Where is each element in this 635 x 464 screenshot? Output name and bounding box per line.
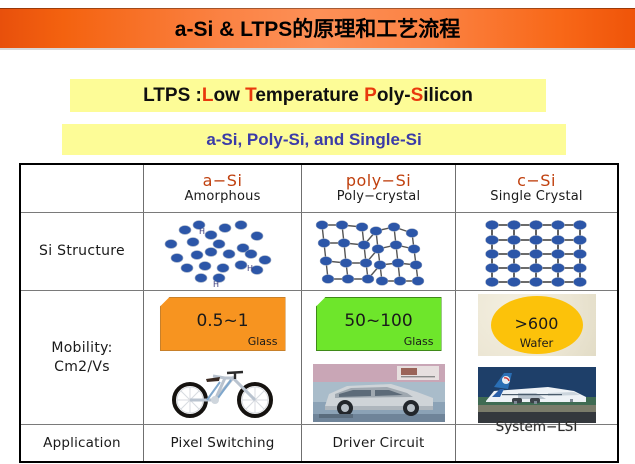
car-icon [313, 364, 445, 422]
amorphous-lattice-icon: H H H [153, 216, 293, 288]
header-a-si-sub: Amorphous [184, 190, 260, 205]
mobility-label-line2: Cm2/Vs [54, 359, 110, 375]
subtitle-ltps-band: LTPS :Low Temperature Poly-Silicon [70, 79, 546, 112]
svg-text:H: H [247, 264, 253, 273]
airplane-photo [478, 367, 596, 423]
ltps-seg-8: ilicon [423, 85, 473, 106]
row-label-mobility-text: Mobility: Cm2/Vs [51, 339, 112, 377]
row-label-si-structure: Si Structure [21, 213, 143, 290]
single-crystal-lattice-icon [482, 217, 592, 287]
header-cell-blank [21, 165, 143, 212]
substrate-label-a-si: Glass [248, 335, 278, 348]
glass-panel-a-si: 0.5~1 Glass [160, 297, 286, 351]
header-a-si-main: a−Si [203, 172, 243, 190]
ltps-seg-1: L [202, 85, 214, 106]
subtitle-types-band: a-Si, Poly-Si, and Single-Si [62, 124, 566, 155]
header-poly-si-sub: Poly−crystal [337, 190, 421, 205]
application-system-lsi-text: System−LSI [496, 419, 578, 435]
cell-amorphous-structure: H H H [143, 213, 301, 290]
cell-mobility-poly-si: 50~100 Glass [301, 291, 455, 424]
ltps-seg-4: emperature [255, 85, 364, 106]
ltps-seg-2: ow [213, 85, 245, 106]
cell-application-c-si: System−LSI [455, 425, 617, 461]
svg-text:H: H [213, 280, 219, 288]
cell-application-poly-si: Driver Circuit [301, 425, 455, 461]
header-poly-si-main: poly−Si [346, 172, 411, 190]
bicycle-icon [163, 364, 283, 420]
header-cell-c-si: c−Si Single Crystal [455, 165, 617, 212]
header-c-si-sub: Single Crystal [490, 190, 582, 205]
bicycle-photo [163, 364, 283, 420]
title-underline-divider [0, 48, 635, 50]
polycrystal-lattice-icon [314, 217, 444, 287]
page-title: a-Si & LTPS的原理和工艺流程 [175, 13, 460, 43]
cell-single-crystal-structure [455, 213, 617, 290]
subtitle-ltps-text: LTPS :Low Temperature Poly-Silicon [143, 85, 473, 107]
ltps-seg-5: P [364, 85, 377, 106]
ltps-seg-0: LTPS : [143, 85, 202, 106]
svg-text:H: H [199, 227, 205, 236]
title-banner: a-Si & LTPS的原理和工艺流程 [0, 8, 635, 48]
cell-application-a-si: Pixel Switching [143, 425, 301, 461]
cell-mobility-c-si: >600 Wafer [455, 291, 617, 424]
airplane-icon [478, 367, 596, 423]
row-label-mobility: Mobility: Cm2/Vs [21, 291, 143, 424]
comparison-table: a−Si Amorphous poly−Si Poly−crystal c−Si… [19, 163, 619, 463]
table-header-row: a−Si Amorphous poly−Si Poly−crystal c−Si… [21, 165, 617, 212]
row-label-application: Application [21, 425, 143, 461]
table-row: Mobility: Cm2/Vs 0.5~1 Glass [21, 290, 617, 424]
mobility-label-line1: Mobility: [51, 340, 112, 356]
header-c-si-main: c−Si [517, 172, 556, 190]
table-row: Application Pixel Switching Driver Circu… [21, 424, 617, 461]
header-cell-a-si: a−Si Amorphous [143, 165, 301, 212]
ltps-seg-7: S [411, 85, 424, 106]
substrate-label-c-si: Wafer [478, 336, 596, 350]
mobility-value-c-si: >600 [478, 314, 596, 333]
table-row: Si Structure [21, 212, 617, 290]
subtitle-types-text: a-Si, Poly-Si, and Single-Si [206, 130, 421, 150]
wafer-panel-c-si: >600 Wafer [478, 294, 596, 356]
cell-polycrystal-structure [301, 213, 455, 290]
cell-mobility-a-si: 0.5~1 Glass [143, 291, 301, 424]
ltps-seg-6: oly- [377, 85, 411, 106]
mobility-value-a-si: 0.5~1 [161, 311, 285, 331]
header-cell-poly-si: poly−Si Poly−crystal [301, 165, 455, 212]
substrate-label-poly-si: Glass [404, 335, 434, 348]
glass-panel-poly-si: 50~100 Glass [316, 297, 442, 351]
ltps-seg-3: T [245, 85, 255, 106]
mobility-value-poly-si: 50~100 [317, 311, 441, 331]
car-photo [313, 364, 445, 422]
